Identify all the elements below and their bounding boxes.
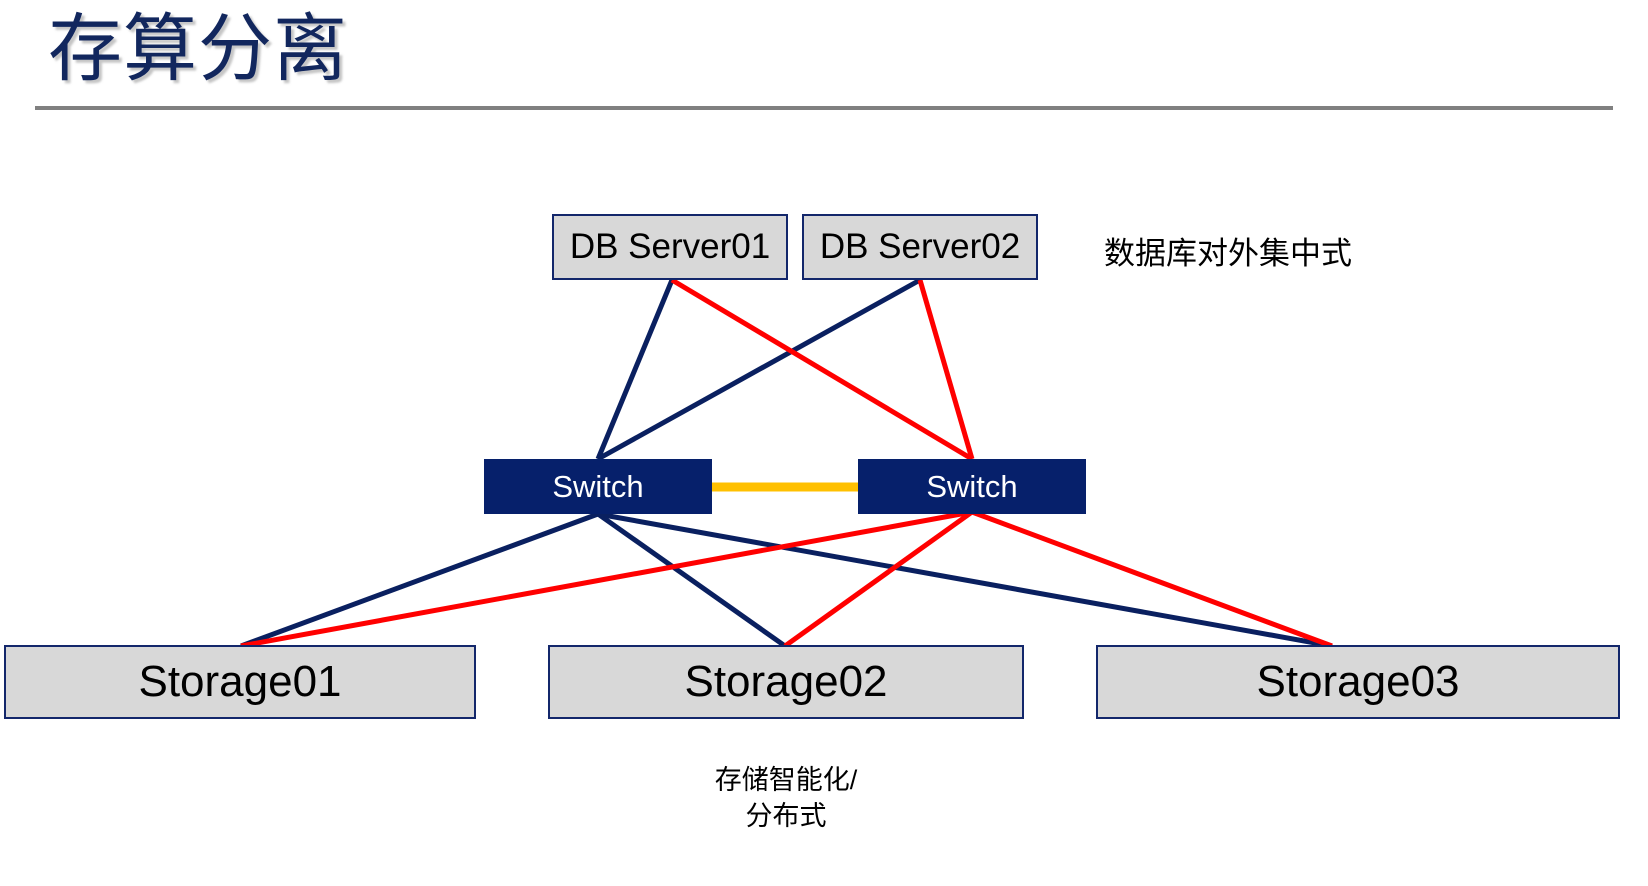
connector-layer <box>0 0 1648 886</box>
node-storage-03[interactable]: Storage03 <box>1096 645 1620 719</box>
link-db01-switch-right <box>672 280 972 459</box>
node-label: Storage02 <box>684 657 887 707</box>
link-db02-switch-left <box>598 280 920 459</box>
node-switch-right[interactable]: Switch <box>858 459 1086 514</box>
link-switch-left-storage03 <box>598 514 1332 646</box>
link-switch-right-storage01 <box>241 512 972 646</box>
node-label: Storage03 <box>1256 657 1459 707</box>
node-switch-left[interactable]: Switch <box>484 459 712 514</box>
node-label: DB Server01 <box>570 227 770 267</box>
node-db-server-02[interactable]: DB Server02 <box>802 214 1038 280</box>
node-label: DB Server02 <box>820 227 1020 267</box>
node-storage-02[interactable]: Storage02 <box>548 645 1024 719</box>
title-divider <box>35 106 1613 110</box>
node-label: Switch <box>926 469 1017 505</box>
annotation-database-centralized: 数据库对外集中式 <box>1104 228 1352 273</box>
link-switch-left-storage02 <box>598 514 785 646</box>
slide-canvas: 存算分离 DB Server01 DB Server02 数据库对外集中式 Sw… <box>0 0 1648 886</box>
annotation-storage-caption-line2: 分布式 <box>628 798 944 834</box>
annotation-storage-caption: 存储智能化/ 分布式 <box>628 762 944 835</box>
page-title: 存算分离 <box>48 8 348 91</box>
link-switch-left-storage01 <box>241 514 598 646</box>
link-db01-switch-left <box>598 280 672 459</box>
node-label: Switch <box>552 469 643 505</box>
annotation-storage-caption-line1: 存储智能化/ <box>628 762 944 798</box>
link-switch-right-storage02 <box>785 512 972 646</box>
link-db02-switch-right <box>920 280 972 459</box>
link-switch-right-storage03 <box>972 512 1332 646</box>
node-label: Storage01 <box>138 657 341 707</box>
node-db-server-01[interactable]: DB Server01 <box>552 214 788 280</box>
node-storage-01[interactable]: Storage01 <box>4 645 476 719</box>
